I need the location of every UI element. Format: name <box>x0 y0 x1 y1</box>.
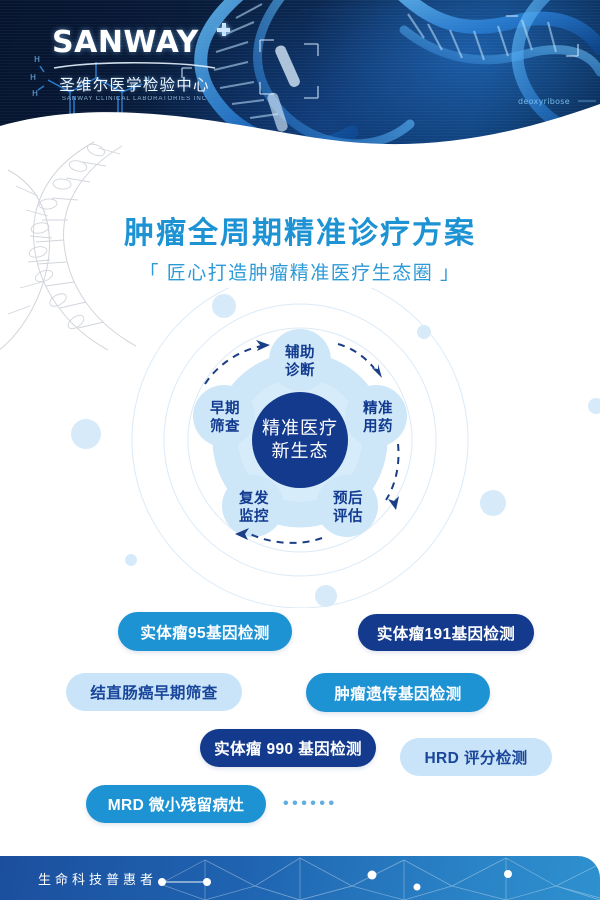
logo-wordmark-text: SANWAY <box>52 25 199 60</box>
node-label-prognosis-evaluation: 预后 评估 <box>320 491 376 526</box>
poster: HHH H N N O thymine deoxyribose guanine <box>0 0 600 900</box>
footer-bar: 生命科技普惠者 <box>0 856 600 900</box>
node-label-recurrence-monitoring: 复发 监控 <box>226 491 282 526</box>
node-label-precision-medication: 精准 用药 <box>350 401 406 436</box>
brand-logo: SANWAY 圣维尔医学检验中心 SANWAY CLINICAL LABORAT… <box>52 28 217 102</box>
product-pill-hereditary-gene[interactable]: 肿瘤遗传基因检测 <box>306 673 490 712</box>
node-label-early-screening: 早期 筛查 <box>197 401 253 436</box>
product-pill-mrd[interactable]: MRD 微小残留病灶 <box>86 785 266 823</box>
logo-swoosh-divider <box>52 61 217 70</box>
product-pill-solid-tumor-990[interactable]: 实体瘤 990 基因检测 <box>200 729 376 767</box>
medical-cross-icon <box>217 23 230 36</box>
node-label-assisted-diagnosis: 辅助 诊断 <box>272 345 328 380</box>
ecosystem-diagram: 精准医疗 新生态 辅助 诊断 精准 用药 预后 评估 复发 监控 早期 筛查 <box>0 288 600 608</box>
svg-text:H: H <box>30 73 36 82</box>
svg-text:H: H <box>34 55 40 64</box>
more-products-ellipsis: •••••• <box>283 795 338 813</box>
product-pill-solid-tumor-191[interactable]: 实体瘤191基因检测 <box>358 614 534 651</box>
page-title: 肿瘤全周期精准诊疗方案 <box>0 208 600 252</box>
logo-wordmark: SANWAY <box>52 28 217 58</box>
product-pill-solid-tumor-95[interactable]: 实体瘤95基因检测 <box>118 612 292 651</box>
footer-slogan: 生命科技普惠者 <box>38 856 157 900</box>
product-pill-colorectal-screening[interactable]: 结直肠癌早期筛查 <box>66 673 242 711</box>
page-subtitle: 「 匠心打造肿瘤精准医疗生态圈 」 <box>0 258 600 285</box>
product-pill-hrd-score[interactable]: HRD 评分检测 <box>400 738 552 776</box>
center-label: 精准医疗 新生态 <box>252 417 348 464</box>
logo-name-cn: 圣维尔医学检验中心 <box>52 77 217 94</box>
